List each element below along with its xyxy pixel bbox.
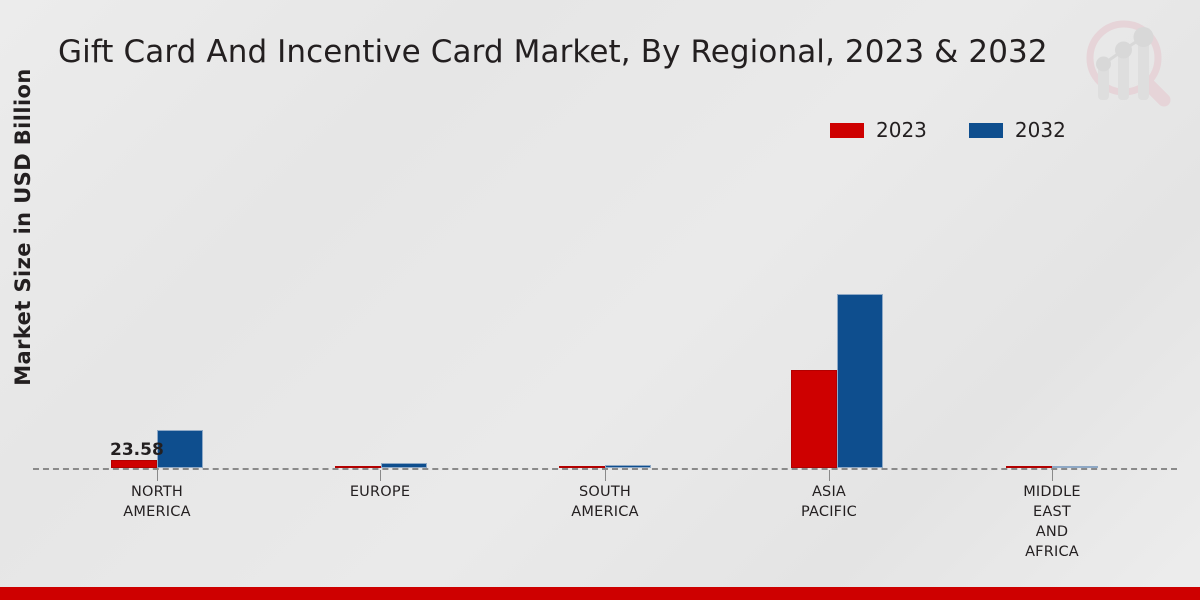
category-label-asia-pacific-line1: ASIA [744,482,914,502]
category-label-north-america: NORTH AMERICA [72,482,242,522]
value-label-north-america-2023: 23.58 [110,440,164,460]
category-label-south-america: SOUTH AMERICA [520,482,690,522]
footer-accent-strip [0,587,1200,600]
bar-group-south-america [559,168,651,468]
category-label-south-america-line2: AMERICA [520,502,690,522]
axis-tick-europe [380,470,381,481]
category-label-south-america-line1: SOUTH [520,482,690,502]
category-label-asia-pacific-line2: PACIFIC [744,502,914,522]
category-label-mea-line3: AND [967,522,1137,542]
bar-group-middle-east-africa [1006,168,1098,468]
axis-tick-north-america [157,470,158,481]
bar-group-asia-pacific [791,168,883,468]
category-label-north-america-line1: NORTH [72,482,242,502]
category-label-europe: EUROPE [295,482,465,502]
category-label-north-america-line2: AMERICA [72,502,242,522]
bar-group-europe [335,168,427,468]
bar-south-america-2023[interactable] [559,466,605,468]
chart-page: Gift Card And Incentive Card Market, By … [0,0,1200,600]
bar-europe-2023[interactable] [335,466,381,468]
bar-middle-east-africa-2032[interactable] [1052,466,1098,468]
category-label-mea-line4: AFRICA [967,542,1137,562]
bar-north-america-2032[interactable] [157,430,203,468]
y-axis-title: Market Size in USD Billion [11,62,35,392]
bar-europe-2032[interactable] [381,463,427,468]
axis-tick-middle-east-africa [1052,470,1053,481]
bar-middle-east-africa-2023[interactable] [1006,466,1052,468]
bar-asia-pacific-2023[interactable] [791,370,837,468]
axis-tick-south-america [605,470,606,481]
category-label-mea-line2: EAST [967,502,1137,522]
axis-tick-asia-pacific [829,470,830,481]
bar-south-america-2032[interactable] [605,465,651,468]
category-label-asia-pacific: ASIA PACIFIC [744,482,914,522]
bar-asia-pacific-2032[interactable] [837,294,883,468]
bar-north-america-2023[interactable] [111,460,157,468]
bar-group-north-america [111,168,203,468]
category-label-mea-line1: MIDDLE [967,482,1137,502]
category-label-middle-east-africa: MIDDLE EAST AND AFRICA [967,482,1137,562]
plot-area: Market Size in USD Billion 23.58 [0,0,1200,600]
category-label-europe-line1: EUROPE [295,482,465,502]
